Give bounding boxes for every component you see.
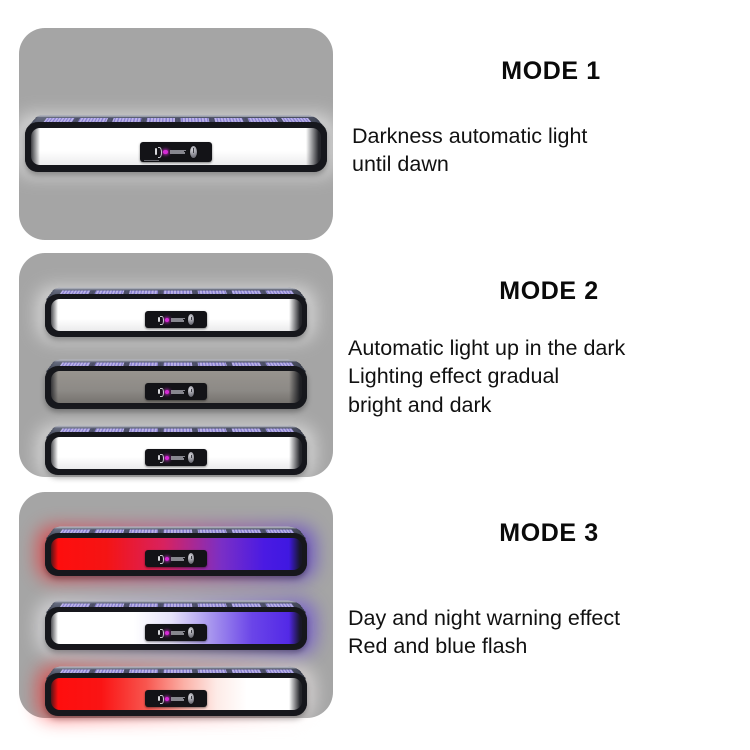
power-button[interactable] — [190, 146, 197, 158]
lamp-endcap-right — [289, 607, 307, 650]
control-panel[interactable] — [145, 550, 208, 567]
product-panel-mode-3 — [19, 492, 333, 718]
control-panel[interactable] — [145, 690, 208, 707]
lamp-endcap-right — [289, 294, 307, 337]
lamp-shell — [45, 607, 307, 650]
lamp-endcap-left — [45, 533, 58, 576]
lamp-shell — [45, 366, 307, 409]
lamp-shell — [45, 432, 307, 475]
power-button[interactable] — [188, 386, 194, 397]
lamp-shell — [45, 533, 307, 576]
control-panel[interactable] — [140, 142, 212, 162]
lamp-endcap-left — [45, 366, 58, 409]
product-panel-mode-1 — [19, 28, 333, 240]
mode-3-description: Day and night warning effect Red and blu… — [348, 604, 750, 661]
control-panel[interactable] — [145, 624, 208, 641]
lamp-shell — [45, 673, 307, 716]
motion-sensor-icon — [158, 554, 164, 564]
motion-sensor-icon — [158, 315, 164, 325]
led-indicator — [165, 697, 169, 701]
motion-sensor-icon — [158, 453, 164, 463]
sensor-caption — [144, 160, 158, 161]
lamp-endcap-right — [306, 122, 327, 172]
power-button[interactable] — [188, 314, 194, 325]
lamp-endcap-right — [289, 432, 307, 475]
motion-sensor-icon — [158, 694, 164, 704]
lamp-mode3-1 — [45, 514, 307, 576]
control-panel-labels — [171, 631, 186, 635]
lamp-mode3-2 — [45, 588, 307, 650]
control-panel-labels — [171, 390, 186, 394]
power-button[interactable] — [188, 452, 194, 463]
lamp-endcap-left — [45, 294, 58, 337]
control-panel-labels — [171, 318, 186, 322]
lamp-endcap-right — [289, 533, 307, 576]
mode-row-1: MODE 1 Darkness automatic light until da… — [0, 0, 750, 250]
lamp-mode1-1 — [25, 100, 327, 172]
control-panel[interactable] — [145, 383, 208, 400]
control-panel-labels — [171, 697, 186, 701]
lamp-endcap-right — [289, 673, 307, 716]
mode-2-text: MODE 2 Automatic light up in the dark Li… — [348, 278, 750, 419]
led-indicator — [165, 390, 169, 394]
mode-1-text: MODE 1 Darkness automatic light until da… — [352, 58, 750, 179]
control-panel-labels — [171, 456, 186, 460]
power-button[interactable] — [188, 627, 194, 638]
lamp-mode2-3 — [45, 413, 307, 475]
mode-row-2: MODE 2 Automatic light up in the dark Li… — [0, 250, 750, 490]
led-indicator — [165, 456, 169, 460]
mode-3-text: MODE 3 Day and night warning effect Red … — [348, 520, 750, 661]
mode-1-description: Darkness automatic light until dawn — [352, 122, 750, 179]
lamp-endcap-left — [45, 432, 58, 475]
lamp-endcap-right — [289, 366, 307, 409]
mode-comparison-page: MODE 1 Darkness automatic light until da… — [0, 0, 750, 750]
mode-row-3: MODE 3 Day and night warning effect Red … — [0, 490, 750, 750]
led-indicator — [163, 150, 168, 154]
power-button[interactable] — [188, 553, 194, 564]
control-panel-labels — [171, 557, 186, 561]
led-indicator — [165, 631, 169, 635]
motion-sensor-icon — [158, 628, 164, 638]
lamp-shell — [25, 122, 327, 172]
lamp-shell — [45, 294, 307, 337]
power-button[interactable] — [188, 693, 194, 704]
lamp-mode2-2 — [45, 347, 307, 409]
product-panel-mode-2 — [19, 253, 333, 477]
mode-2-description: Automatic light up in the dark Lighting … — [348, 334, 750, 420]
lamp-mode2-1 — [45, 275, 307, 337]
lamp-endcap-left — [25, 122, 40, 172]
mode-2-title: MODE 2 — [348, 278, 750, 306]
led-indicator — [165, 318, 169, 322]
mode-1-title: MODE 1 — [352, 58, 750, 86]
led-indicator — [165, 557, 169, 561]
motion-sensor-icon — [155, 146, 161, 157]
lamp-mode3-3 — [45, 654, 307, 716]
motion-sensor-icon — [158, 387, 164, 397]
control-panel-labels — [170, 150, 188, 154]
mode-3-title: MODE 3 — [348, 520, 750, 548]
control-panel[interactable] — [145, 449, 208, 466]
lamp-endcap-left — [45, 607, 58, 650]
lamp-endcap-left — [45, 673, 58, 716]
control-panel[interactable] — [145, 311, 208, 328]
